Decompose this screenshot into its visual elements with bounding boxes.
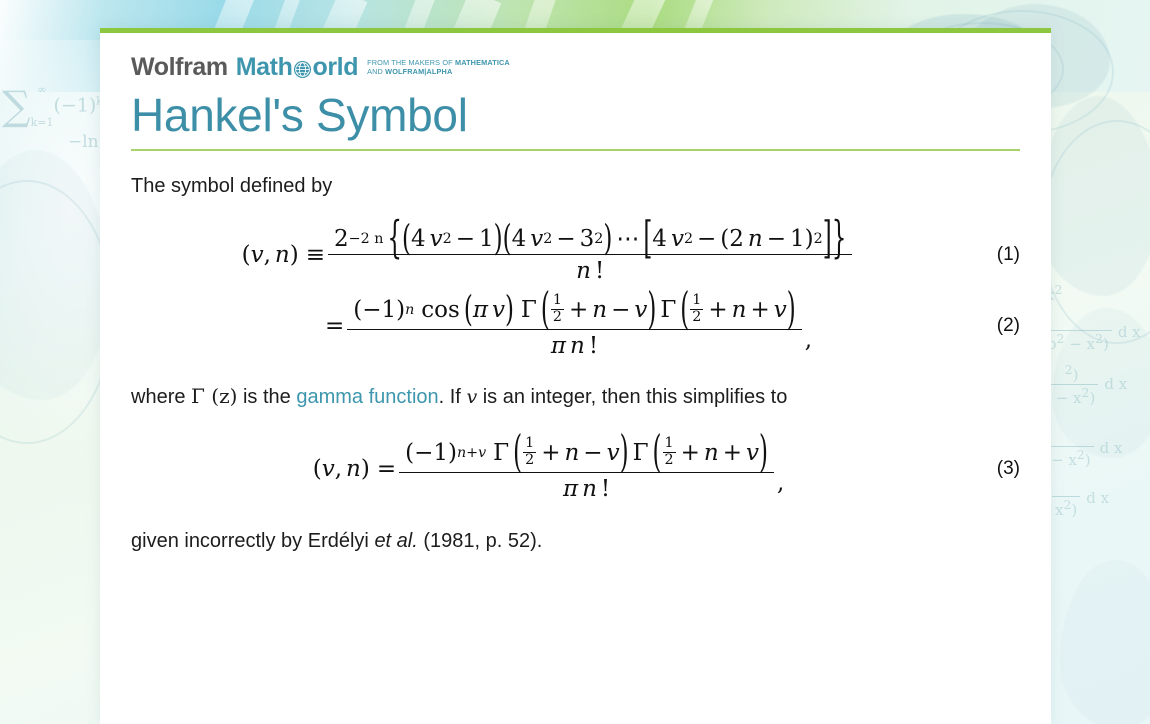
eq1-var-v: v [251, 242, 264, 268]
eq1-v-c: v [671, 226, 684, 252]
eq3-n-a: n [564, 440, 579, 466]
eq1-three: 3 [580, 226, 595, 252]
eq1-var-n: n [275, 242, 290, 268]
equation-2-trailing-comma: , [805, 327, 812, 359]
eq3-var-n: n [346, 456, 361, 482]
eq2-gamma-b: Γ [660, 297, 676, 323]
background-formula-r2: (b2 − x2)d x [1038, 312, 1141, 353]
equation-1-numerator: 2−2 n { (4v2−1) (4v2−32) ⋯ [4v2−(2n−1)2]… [328, 226, 852, 255]
eq3-paren-open-1: ( [513, 429, 522, 478]
equation-3-lhs: (v,n) [313, 456, 370, 482]
eq3-den-fact: ! [601, 476, 610, 502]
eq2-paren-open-2: ( [541, 286, 550, 335]
eq3-den-pi: π [563, 476, 578, 502]
eq3-v-b: v [746, 440, 759, 466]
logo-tagline: FROM THE MAKERS OF MATHEMATICA AND WOLFR… [367, 58, 510, 77]
equation-2-denominator: πn! [545, 330, 604, 359]
equation-2-number: (2) [966, 315, 1020, 337]
equation-1-body: (v,n) ≡ 2−2 n { (4v2−1) (4v2−32) ⋯ [4v2−… [131, 226, 966, 284]
eq1-paren-close-2: ) [603, 219, 612, 259]
eq1-base-2: 2 [334, 226, 349, 252]
eq2-cos: cos [421, 297, 460, 323]
eq2-n-b: n [732, 297, 747, 323]
globe-icon [293, 59, 312, 78]
eq1-brace-open: { [387, 214, 402, 263]
eq1-ellipsis: ⋯ [616, 226, 639, 252]
eq2-pi-a: π [473, 297, 488, 323]
where-text-4: is an integer, then this simplifies to [477, 386, 787, 408]
eq3-paren-close-1: ) [620, 429, 629, 478]
eq2-half-b: 12 [690, 293, 703, 326]
background-fraction: − x2) [1048, 428, 1094, 469]
tagline-line-2: AND WOLFRAM|ALPHA [367, 67, 452, 76]
equation-1-number: (1) [966, 244, 1020, 266]
eq2-v-a: v [492, 297, 505, 323]
logo-math-text: Math [236, 55, 293, 80]
closing-text-1: given incorrectly by Erdélyi [131, 530, 374, 552]
eq3-half-a: 12 [523, 436, 536, 469]
eq2-gamma-a: Γ [521, 297, 537, 323]
equation-2-fraction: (−1)n cos(πv) Γ(12+n−v) Γ(12+n+v) πn! [347, 294, 802, 359]
gamma-function-link[interactable]: gamma function [296, 386, 438, 408]
eq1-paren-close-1: ) [494, 219, 503, 259]
equation-2-body: = (−1)n cos(πv) Γ(12+n−v) Γ(12+n+v) πn! [131, 294, 966, 359]
eq3-gamma-a: Γ [493, 440, 509, 466]
equation-3-denominator: πn! [557, 473, 616, 502]
eq1-n-inner: n [748, 226, 763, 252]
background-fraction: x2) [1052, 478, 1080, 519]
equation-2-relation: = [325, 313, 344, 339]
eq2-paren-close-3: ) [787, 286, 796, 335]
equation-1-lhs: (v,n) [242, 242, 299, 268]
eq2-n-a: n [592, 297, 607, 323]
equation-2: = (−1)n cos(πv) Γ(12+n−v) Γ(12+n+v) πn! [131, 294, 1020, 359]
summation-icon: ∑ [2, 84, 31, 130]
equation-3-number: (3) [966, 458, 1020, 480]
equation-2-numerator: (−1)n cos(πv) Γ(12+n−v) Γ(12+n+v) [347, 294, 802, 330]
eq1-paren-open-1: ( [402, 219, 411, 259]
logo-mathworld-text: Math orld [236, 55, 358, 80]
eq2-v-c: v [774, 297, 787, 323]
eq2-half-a: 12 [551, 293, 564, 326]
closing-paragraph: given incorrectly by Erdélyi et al. (198… [131, 528, 1020, 555]
summation-limits: ∞k=1 [31, 84, 54, 129]
eq2-paren-close-2: ) [647, 286, 656, 335]
title-divider [131, 149, 1020, 151]
tagline-line2-bold: WOLFRAM|ALPHA [385, 67, 452, 76]
background-formula-term: (−1) [53, 95, 96, 117]
logo-wolfram-text: Wolfram [131, 55, 228, 80]
eq1-four-a: 4 [411, 226, 426, 252]
intro-paragraph: The symbol defined by [131, 173, 1020, 200]
equation-3-body: (v,n) = (−1)n+v Γ(12+n−v) Γ(12+n+v) πn! [131, 437, 966, 502]
eq3-gamma-b: Γ [633, 440, 649, 466]
closing-text-2: (1981, p. 52). [418, 530, 543, 552]
nu-symbol: v [466, 386, 477, 408]
background-formula-r3: 2)2 − x2)d x [1040, 362, 1127, 407]
where-text-3: . If [439, 386, 467, 408]
eq1-minus-a: − [456, 226, 475, 252]
eq3-v-a: v [607, 440, 620, 466]
eq3-paren-close-2: ) [759, 429, 768, 478]
where-paragraph: where Γ (z) is the gamma function. If v … [131, 383, 1020, 411]
page-title: Hankel's Symbol [131, 87, 1020, 143]
equation-3-fraction: (−1)n+v Γ(12+n−v) Γ(12+n+v) πn! [399, 437, 774, 502]
eq3-n-b: n [704, 440, 719, 466]
logo-world-text: orld [312, 55, 358, 80]
tagline-line2-plain: AND [367, 67, 385, 76]
background-formula-ln: −ln [68, 132, 99, 152]
background-blob [1060, 560, 1150, 724]
eq1-four-b: 4 [512, 226, 527, 252]
equation-1-relation: ≡ [306, 242, 325, 268]
eq1-minus-c: − [697, 226, 716, 252]
eq1-minus-b: − [556, 226, 575, 252]
background-formula-r4: − x2)d x [1048, 428, 1122, 469]
tagline-line1-bold: MATHEMATICA [455, 58, 510, 67]
eq1-v-b: v [530, 226, 543, 252]
tagline-line-1: FROM THE MAKERS OF MATHEMATICA [367, 58, 510, 67]
content-card: Wolfram Math orld FROM THE MAKERS OF [100, 28, 1051, 724]
eq1-den-fact: ! [595, 258, 604, 284]
eq1-one-inner: 1 [790, 226, 805, 252]
eq1-paren-open-2: ( [503, 219, 512, 259]
eq1-minus-d: − [767, 226, 786, 252]
tagline-line1-plain: FROM THE MAKERS OF [367, 58, 455, 67]
equation-3-numerator: (−1)n+v Γ(12+n−v) Γ(12+n+v) [399, 437, 774, 473]
background-formula-r5: x2)d x [1052, 478, 1109, 519]
eq2-paren-open-3: ( [680, 286, 689, 335]
eq3-den-n: n [582, 476, 597, 502]
eq2-den-pi: π [551, 333, 566, 359]
eq3-half-b: 12 [663, 436, 676, 469]
equation-1: (v,n) ≡ 2−2 n { (4v2−1) (4v2−32) ⋯ [4v2−… [131, 226, 1020, 284]
eq3-paren-open-2: ( [653, 429, 662, 478]
equation-3-trailing-comma: , [777, 470, 784, 502]
eq2-paren-open-1: ( [464, 290, 473, 330]
where-text-1: where [131, 386, 191, 408]
eq2-v-b: v [634, 297, 647, 323]
eq2-den-fact: ! [589, 333, 598, 359]
eq1-one: 1 [479, 226, 494, 252]
eq3-minus-one: −1 [414, 440, 448, 466]
mathworld-logo[interactable]: Wolfram Math orld FROM THE MAKERS OF [131, 55, 1020, 81]
equation-1-denominator: n! [570, 255, 610, 284]
closing-et-al: et al. [374, 530, 417, 552]
where-text-2: is the [237, 386, 296, 408]
eq1-v-a: v [430, 226, 443, 252]
equation-1-fraction: 2−2 n { (4v2−1) (4v2−32) ⋯ [4v2−(2n−1)2]… [328, 226, 852, 284]
eq1-bracket-open: [ [643, 214, 652, 263]
gamma-z-symbol: Γ (z) [191, 384, 237, 408]
eq2-paren-close-1: ) [505, 290, 514, 330]
eq2-minus-one: −1 [362, 297, 396, 323]
eq1-bracket-close: ] [823, 214, 832, 263]
eq1-four-c: 4 [652, 226, 667, 252]
eq3-var-v: v [322, 456, 335, 482]
equation-3-relation: = [377, 456, 396, 482]
eq1-brace-close: } [832, 214, 847, 263]
eq2-den-n: n [570, 333, 585, 359]
equation-3: (v,n) = (−1)n+v Γ(12+n−v) Γ(12+n+v) πn! [131, 437, 1020, 502]
eq1-den-n: n [576, 258, 591, 284]
